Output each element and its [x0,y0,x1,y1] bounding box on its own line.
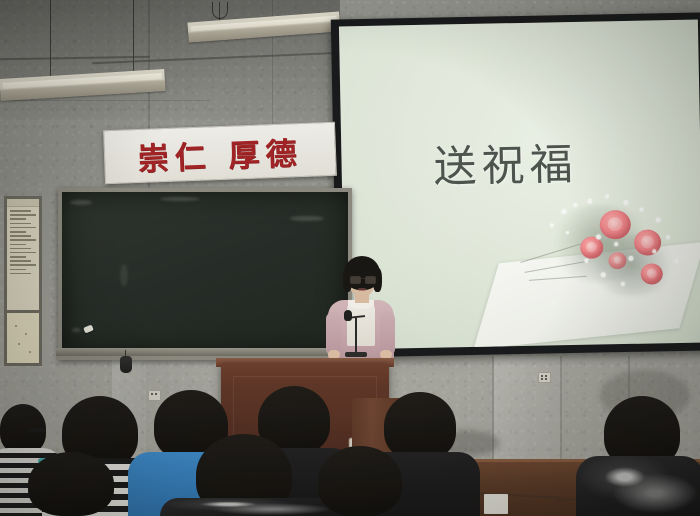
notice-line [10,256,26,258]
blackboard-chalk-tray [56,348,348,356]
chalk-smudge-1 [70,200,92,205]
outlet-slot [541,375,543,377]
classroom-blackboard [58,188,352,360]
audience-member-7 [160,498,340,516]
notice-line [10,227,36,229]
chalk-smudge-3 [160,197,200,201]
notice-line [10,248,31,250]
audience-glasses-icon [28,428,46,432]
bouquet-babysbreath-13 [601,272,606,277]
outlet-slot [545,378,547,380]
slide-bouquet-artwork [487,184,700,340]
presenter-glasses-icon [350,276,374,282]
notice-spot [29,351,31,353]
photo-scene: 送祝福 [0,0,700,516]
bouquet-babysbreath-17 [674,259,678,263]
notice-text-lines [7,207,39,274]
audience-paper-right [484,494,508,514]
wall-seam-vertical-4 [560,356,562,464]
bouquet-babysbreath-6 [639,208,643,212]
bouquet-babysbreath-1 [561,209,566,214]
outlet-slot [155,393,157,395]
bouquet-babysbreath-7 [656,217,661,222]
notice-line [10,264,36,266]
outlet-slot [541,378,543,380]
notice-line [10,218,26,220]
microphone-stem [355,318,357,354]
notice-line [10,210,31,212]
banner-text: 崇仁 厚德 [137,127,303,178]
audience-head-6 [28,452,114,516]
notice-line [10,273,31,275]
chalk-smudge-5 [72,328,81,332]
slide-title: 送祝福 [433,130,578,195]
notice-line [10,244,26,246]
notice-line [10,231,26,233]
notice-line [10,223,31,225]
wall-notice-lower-panel [4,310,42,366]
microphone-head [344,310,352,321]
notice-line [10,269,26,271]
audience-head-5 [384,392,456,460]
bouquet-babysbreath-8 [666,235,670,239]
notice-line [10,252,36,254]
bouquet-babysbreath-3 [587,199,592,204]
notice-line [10,260,31,262]
chalk-piece [83,325,94,334]
bouquet-babysbreath-12 [584,259,588,263]
outlet-slot [545,375,547,377]
presenter-at-podium [318,256,402,364]
notice-spot [18,343,20,345]
presenter-mouth [358,288,366,291]
electrical-outlet-left[interactable] [148,390,161,401]
bouquet-babysbreath-14 [652,249,656,253]
notice-header-bar [7,199,39,207]
electrical-outlet-right[interactable] [538,372,551,383]
light-wire-left-a [50,0,51,82]
audience-head-8 [318,446,402,516]
bouquet-babysbreath-15 [550,223,554,227]
wall-seam-horizontal-1 [0,100,210,101]
notice-line [10,239,36,241]
notice-spot [15,325,17,327]
chalk-smudge-4 [120,264,128,286]
glasses-lens-right [365,276,376,284]
bouquet-babysbreath-9 [596,234,601,239]
chalk-smudge-2 [290,216,324,221]
wall-mounted-speaker [120,356,132,373]
bouquet-babysbreath-4 [605,194,609,198]
notice-line [10,235,31,237]
bouquet-babysbreath-16 [566,231,569,234]
light-hook-right [212,2,228,19]
wall-notice-regulations [4,196,42,314]
audience-member-9 [576,456,700,516]
notice-line [10,214,36,216]
glasses-bridge [359,278,365,279]
notice-spot [25,333,27,335]
light-wire-left-b [133,0,134,74]
outlet-slot [151,393,153,395]
bouquet-babysbreath-10 [614,242,618,246]
wall-motto-banner: 崇仁 厚德 [103,122,337,184]
bouquet-babysbreath-2 [573,203,577,207]
bouquet-babysbreath-5 [623,200,628,205]
bouquet-babysbreath-11 [628,256,633,261]
